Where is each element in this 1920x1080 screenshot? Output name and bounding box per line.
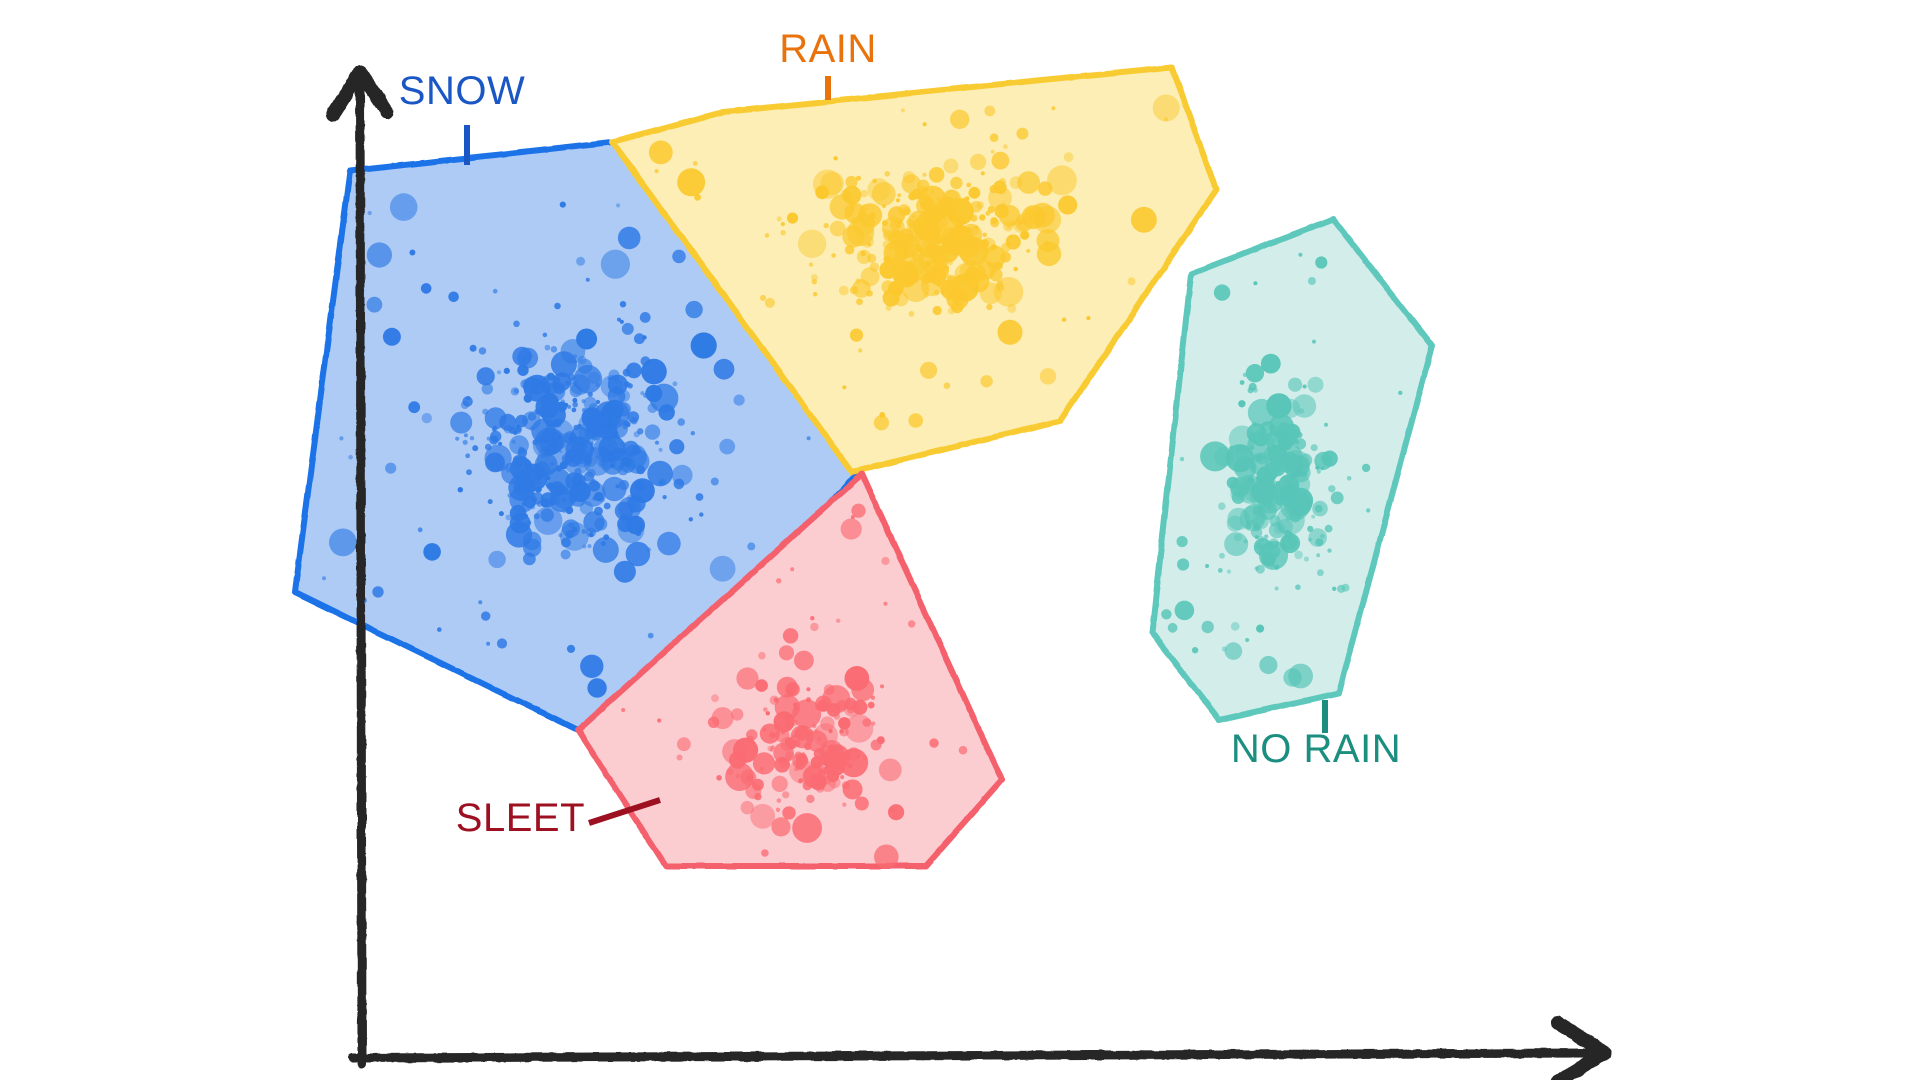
scatter-point: [645, 385, 662, 402]
scatter-point: [777, 216, 782, 221]
scatter-point: [584, 472, 594, 482]
scatter-point: [1261, 354, 1281, 374]
scatter-point: [806, 795, 814, 803]
scatter-point: [572, 398, 577, 403]
scatter-point: [771, 817, 790, 836]
scatter-point: [1234, 534, 1242, 542]
scatter-point: [1282, 535, 1297, 550]
scatter-point: [810, 623, 818, 631]
scatter-point: [534, 409, 539, 414]
scatter-point: [795, 752, 803, 760]
scatter-point: [448, 292, 459, 303]
scatter-point: [874, 845, 899, 870]
scatter-point: [642, 335, 646, 339]
scatter-point: [770, 696, 779, 705]
scatter-point: [815, 705, 821, 711]
scatter-point: [731, 708, 743, 720]
scatter-point: [696, 493, 704, 501]
scatter-point: [1269, 545, 1275, 551]
scatter-point: [902, 275, 929, 302]
scatter-point: [1268, 459, 1286, 477]
scatter-point: [620, 301, 626, 307]
scatter-point: [1246, 364, 1264, 382]
scatter-point: [570, 491, 586, 507]
scatter-point: [1308, 277, 1316, 285]
scatter-point: [1328, 485, 1335, 492]
scatter-point: [576, 329, 597, 350]
scatter-point: [637, 428, 643, 434]
scatter-point: [514, 388, 519, 393]
scatter-point: [1311, 515, 1315, 519]
scatter-point: [813, 292, 817, 296]
scatter-point: [385, 463, 396, 474]
scatter-point: [613, 448, 622, 457]
scatter-point: [1218, 502, 1226, 510]
scatter-point: [950, 110, 969, 129]
scatter-point: [648, 403, 658, 413]
scatter-point: [794, 767, 798, 771]
scatter-point: [851, 504, 865, 518]
scatter-point: [1175, 601, 1195, 621]
scatter-point: [517, 365, 528, 376]
scatter-point: [1177, 536, 1188, 547]
scatter-point: [576, 257, 585, 266]
scatter-point: [909, 311, 915, 317]
scatter-point: [640, 312, 651, 323]
scatter-point: [1227, 570, 1231, 574]
scatter-point: [933, 262, 949, 278]
scatter-point: [1251, 527, 1262, 538]
scatter-point: [845, 176, 857, 188]
scatter-point: [551, 346, 558, 353]
scatter-point: [839, 727, 849, 737]
scatter-point: [1253, 281, 1257, 285]
scatter-point: [782, 806, 795, 819]
scatter-point: [616, 203, 620, 207]
scatter-point: [860, 190, 868, 198]
scatter-point: [760, 767, 764, 771]
scatter-point: [981, 171, 985, 175]
scatter-point: [572, 408, 577, 413]
scatter-point: [565, 381, 570, 386]
scatter-point: [818, 771, 822, 775]
scatter-point: [880, 684, 884, 688]
scatter-point: [1264, 535, 1268, 539]
scatter-point: [582, 399, 586, 403]
scatter-point: [1177, 558, 1189, 570]
scatter-point: [793, 702, 797, 706]
scatter-point: [1227, 516, 1243, 532]
scatter-point: [620, 514, 627, 521]
scatter-point: [645, 424, 660, 439]
scatter-point: [1051, 106, 1055, 110]
scatter-point: [479, 347, 486, 354]
scatter-point: [546, 476, 550, 480]
scatter-point: [708, 717, 719, 728]
scatter-point: [1298, 253, 1302, 257]
scatter-point: [836, 619, 840, 623]
scatter-point: [472, 445, 478, 451]
scatter-point: [882, 217, 905, 240]
scatter-point: [685, 301, 702, 318]
scatter-point: [895, 242, 925, 272]
scatter-point: [879, 759, 902, 782]
scatter-point: [947, 260, 953, 266]
scatter-point: [828, 745, 835, 752]
scatter-point: [329, 529, 357, 557]
scatter-point: [1294, 551, 1303, 560]
scatter-point: [470, 345, 477, 352]
scatter-point: [580, 655, 603, 678]
cluster-no-rain: [1152, 219, 1432, 720]
scatter-point: [884, 171, 890, 177]
scatter-point: [868, 702, 875, 709]
scatter-point: [961, 278, 967, 284]
scatter-point: [997, 284, 1005, 292]
scatter-point: [604, 503, 611, 510]
scatter-point: [755, 679, 768, 692]
scatter-point: [525, 352, 532, 359]
scatter-point: [867, 178, 890, 201]
scatter-point: [537, 501, 543, 507]
scatter-point: [997, 185, 1006, 194]
scatter-point: [758, 652, 766, 660]
scatter-point: [803, 781, 812, 790]
scatter-point: [614, 561, 636, 583]
scatter-point: [699, 512, 703, 516]
scatter-point: [765, 298, 775, 308]
scatter-point: [592, 496, 596, 500]
scatter-point: [1034, 206, 1062, 234]
scatter-point: [1044, 241, 1049, 246]
scatter-point: [1324, 423, 1328, 427]
scatter-point: [561, 538, 571, 548]
scatter-point: [1283, 476, 1292, 485]
scatter-point: [787, 213, 798, 224]
scatter-point: [1018, 220, 1023, 225]
scatter-point: [1286, 517, 1291, 522]
scatter-point: [920, 203, 926, 209]
scatter-point: [1342, 584, 1350, 592]
scatter-point: [846, 723, 850, 727]
scatter-point: [1192, 647, 1198, 653]
scatter-point: [990, 217, 997, 224]
scatter-point: [763, 707, 768, 712]
scatter-point: [464, 433, 468, 437]
scatter-point: [968, 191, 973, 196]
scatter-point: [534, 513, 540, 519]
scatter-point: [1200, 441, 1230, 471]
scatter-point: [1256, 452, 1268, 464]
scatter-point: [504, 368, 510, 374]
scatter-point: [1275, 430, 1282, 437]
scatter-point: [842, 385, 846, 389]
scatter-point: [855, 797, 869, 811]
scatter-point: [492, 426, 497, 431]
scatter-point: [601, 250, 630, 279]
scatter-point: [711, 478, 719, 486]
scatter-point: [966, 183, 971, 188]
scatter-point: [648, 633, 654, 639]
scatter-point: [790, 567, 794, 571]
scatter-point: [888, 804, 904, 820]
scatter-point: [1278, 437, 1292, 451]
scatter-point: [980, 375, 992, 387]
scatter-point: [874, 415, 889, 430]
scatter-point: [450, 412, 472, 434]
scatter-point: [1026, 249, 1030, 253]
scatter-point: [803, 727, 807, 731]
scatter-point: [785, 688, 793, 696]
scatter-point: [663, 495, 667, 499]
scatter-point: [1295, 584, 1301, 590]
scatter-point: [810, 616, 814, 620]
scatter-point: [986, 304, 992, 310]
scatter-point: [824, 223, 829, 228]
scatter-point: [1315, 256, 1327, 268]
scatter-point: [1180, 457, 1184, 461]
scatter-point: [922, 206, 942, 226]
scatter-point: [1007, 242, 1011, 246]
scatter-point: [1315, 538, 1323, 546]
scatter-point: [1058, 195, 1077, 214]
scatter-point: [769, 732, 775, 738]
scatter-point: [421, 283, 432, 294]
scatter-point: [1038, 181, 1052, 195]
scatter-point: [574, 365, 603, 394]
scatter-point: [602, 477, 626, 501]
scatter-point: [523, 553, 536, 566]
scatter-point: [734, 395, 745, 406]
scatter-point: [903, 207, 911, 215]
scatter-point: [849, 749, 853, 753]
scatter-point: [512, 440, 516, 444]
scatter-point: [618, 227, 641, 250]
scatter-point: [847, 762, 853, 768]
scatter-point: [946, 288, 968, 310]
scatter-point: [499, 414, 516, 431]
scatter-point: [455, 437, 459, 441]
scatter-point: [922, 173, 926, 177]
scatter-point: [960, 261, 977, 278]
scatter-point: [622, 323, 634, 335]
scatter-point: [733, 738, 758, 763]
scatter-point: [567, 645, 575, 653]
scatter-point: [934, 290, 940, 296]
scatter-point: [775, 728, 789, 742]
scatter-point: [825, 756, 845, 776]
scatter-point: [761, 849, 769, 857]
scatter-point: [1128, 277, 1136, 285]
scatter-point: [672, 250, 686, 264]
scatter-point: [1086, 316, 1090, 320]
scatter-point: [1222, 646, 1227, 651]
scatter-point: [348, 455, 353, 460]
scatter-point: [486, 642, 490, 646]
scatter-cluster-figure: SNOWRAINSLEETNO RAIN: [0, 0, 1920, 1080]
scatter-point: [870, 262, 879, 271]
scatter-point: [628, 383, 633, 388]
scatter-point: [596, 383, 600, 387]
scatter-point: [950, 177, 962, 189]
scatter-point: [499, 511, 504, 516]
scatter-point: [636, 465, 645, 474]
scatter-point: [600, 447, 608, 455]
scatter-point: [782, 791, 789, 798]
scatter-point: [1007, 304, 1016, 313]
scatter-point: [1316, 553, 1320, 557]
scatter-point: [536, 395, 560, 419]
scatter-point: [763, 728, 767, 732]
y-axis: [360, 80, 362, 1064]
scatter-point: [530, 426, 535, 431]
scatter-point: [1010, 221, 1015, 226]
scatter-point: [1214, 284, 1230, 300]
scatter-point: [493, 289, 498, 294]
scatter-point: [539, 428, 565, 454]
scatter-point: [1000, 252, 1011, 263]
scatter-point: [977, 261, 996, 280]
scatter-point: [884, 602, 888, 606]
scatter-point: [593, 537, 619, 563]
scatter-point: [1325, 525, 1333, 533]
scatter-point: [750, 804, 775, 829]
scatter-point: [986, 211, 991, 216]
scatter-point: [466, 469, 472, 475]
scatter-point: [850, 286, 858, 294]
scatter-point: [562, 508, 567, 513]
scatter-point: [944, 382, 951, 389]
scatter-point: [657, 532, 681, 556]
scatter-point: [1243, 373, 1247, 377]
scatter-point: [1308, 377, 1324, 393]
scatter-point: [820, 776, 836, 792]
scatter-point: [1006, 234, 1021, 249]
scatter-point: [485, 453, 505, 473]
scatter-point: [463, 440, 468, 445]
scatter-point: [562, 519, 580, 537]
scatter-point: [842, 781, 850, 789]
scatter-point: [1259, 656, 1277, 674]
scatter-point: [811, 274, 818, 281]
scatter-point: [1315, 466, 1319, 470]
scatter-point: [980, 238, 995, 253]
scatter-point: [623, 369, 631, 377]
scatter-point: [943, 159, 958, 174]
scatter-point: [1238, 400, 1245, 407]
scatter-point: [1317, 569, 1324, 576]
scatter-point: [923, 236, 939, 252]
scatter-point: [1008, 235, 1012, 239]
scatter-point: [543, 333, 548, 338]
scatter-point: [970, 226, 979, 235]
scatter-point: [929, 738, 938, 747]
scatter-point: [719, 439, 735, 455]
scatter-point: [1229, 446, 1233, 450]
scatter-point: [528, 412, 536, 420]
scatter-point: [1251, 480, 1275, 504]
scatter-point: [1168, 623, 1178, 633]
scatter-point: [588, 544, 592, 548]
scatter-point: [649, 141, 673, 165]
scatter-point: [485, 444, 492, 451]
scatter-point: [953, 225, 966, 238]
scatter-point: [601, 541, 606, 546]
scatter-point: [1235, 445, 1248, 458]
cluster-label-snow: SNOW: [399, 69, 525, 113]
scatter-point: [470, 436, 474, 440]
scatter-point: [458, 487, 463, 492]
scatter-point: [513, 430, 518, 435]
scatter-point: [621, 708, 625, 712]
scatter-point: [518, 448, 527, 457]
scatter-point: [677, 737, 691, 751]
scatter-point: [691, 332, 717, 358]
scatter-point: [1299, 453, 1313, 467]
scatter-point: [437, 627, 442, 632]
scatter-point: [799, 778, 803, 782]
scatter-point: [840, 775, 844, 779]
scatter-point: [1064, 152, 1074, 162]
scatter-point: [1013, 267, 1018, 272]
scatter-point: [658, 481, 662, 485]
scatter-point: [546, 419, 554, 427]
scatter-point: [798, 230, 826, 258]
scatter-point: [871, 740, 882, 751]
scatter-point: [780, 230, 785, 235]
scatter-point: [820, 716, 834, 730]
scatter-point: [367, 297, 383, 313]
scatter-point: [545, 345, 551, 351]
scatter-point: [462, 396, 472, 406]
scatter-point: [574, 468, 581, 475]
scatter-point: [578, 356, 587, 365]
scatter-point: [659, 448, 663, 452]
scatter-point: [858, 348, 862, 352]
scatter-point: [490, 431, 501, 442]
scatter-point: [908, 620, 915, 627]
scatter-point: [951, 275, 956, 280]
scatter-point: [522, 358, 526, 362]
scatter-point: [1164, 117, 1168, 121]
scatter-point: [383, 328, 401, 346]
scatter-point: [586, 278, 590, 282]
scatter-point: [781, 222, 785, 226]
scatter-point: [1320, 534, 1325, 539]
scatter-point: [845, 714, 873, 742]
scatter-point: [807, 436, 811, 440]
scatter-point: [564, 403, 568, 407]
scatter-point: [806, 697, 811, 702]
scatter-point: [792, 813, 822, 843]
scatter-point: [760, 295, 766, 301]
scatter-point: [628, 495, 646, 513]
scatter-point: [367, 242, 392, 267]
scatter-point: [423, 543, 441, 561]
scatter-point: [845, 245, 854, 254]
scatter-point: [641, 359, 667, 385]
scatter-point: [655, 169, 659, 173]
scatter-point: [1322, 451, 1338, 467]
scatter-point: [497, 638, 507, 648]
scatter-point: [561, 550, 571, 560]
scatter-point: [1016, 128, 1028, 140]
scatter-point: [841, 189, 852, 200]
scatter-point: [929, 167, 945, 183]
scatter-point: [938, 242, 958, 262]
scatter-point: [481, 611, 490, 620]
scatter-point: [896, 198, 900, 202]
